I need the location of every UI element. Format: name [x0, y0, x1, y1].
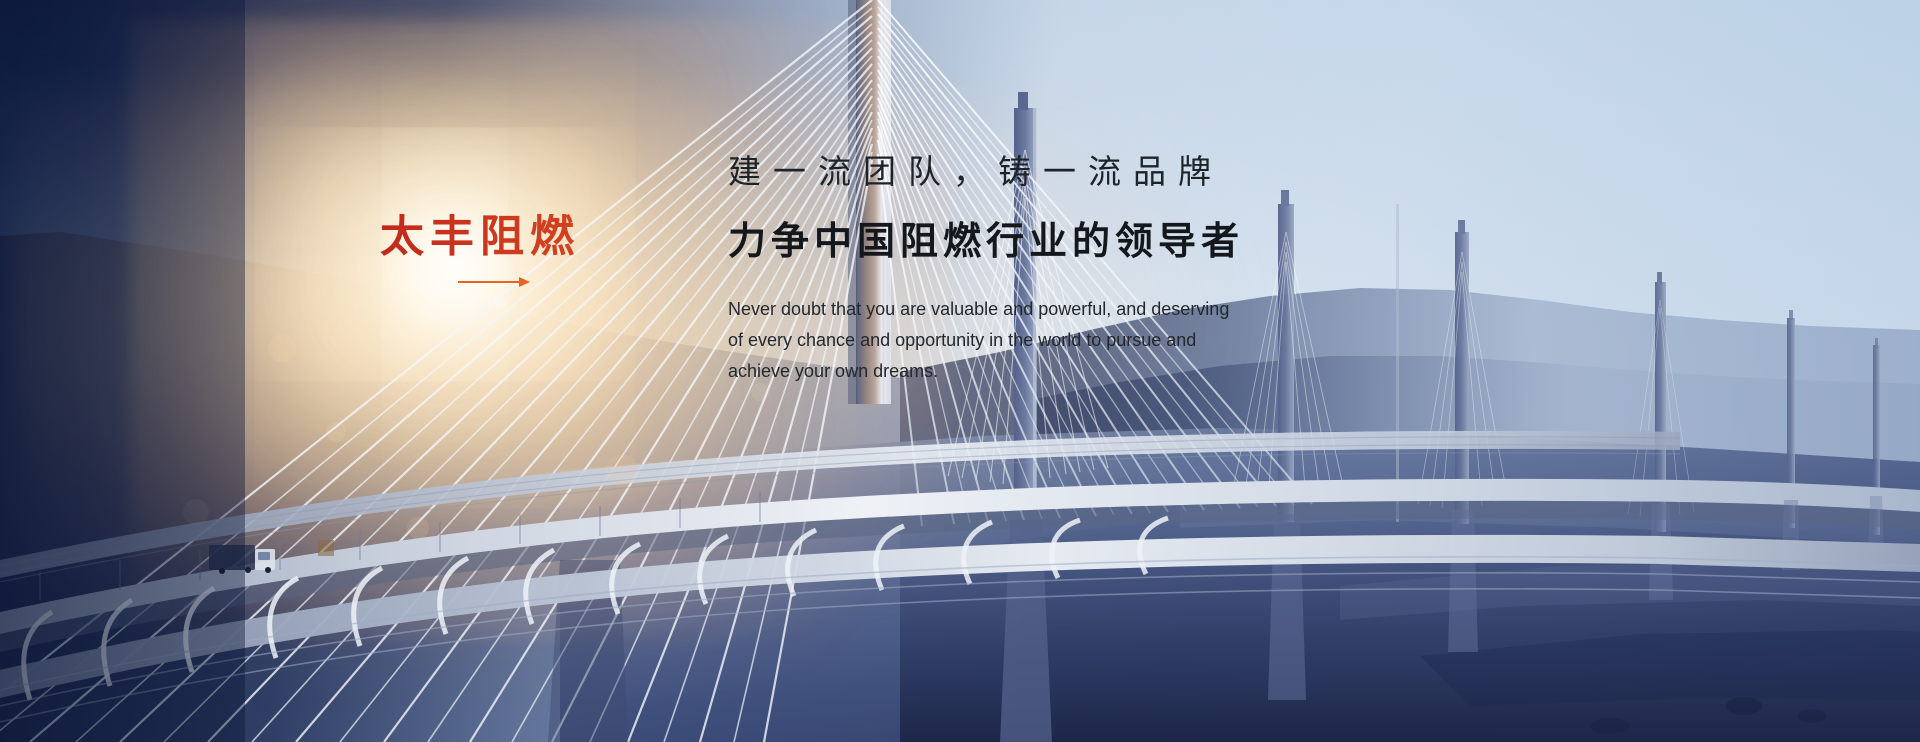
brand-logo[interactable]: 太丰阻燃 [380, 214, 680, 288]
subcopy-line-2: of every chance and opportunity in the w… [728, 325, 1288, 356]
headline-line-2: 力争中国阻燃行业的领导者 [728, 217, 1448, 266]
brand-logo-text: 太丰阻燃 [380, 214, 680, 260]
subcopy-line-1: Never doubt that you are valuable and po… [728, 294, 1288, 325]
headline-block: 建一流团队，铸一流品牌 力争中国阻燃行业的领导者 Never doubt tha… [728, 150, 1448, 387]
hero-banner: 太丰阻燃 建一流团队，铸一流品牌 力争中国阻燃行业的领导者 Never doub… [0, 0, 1920, 742]
arrow-head [519, 277, 530, 287]
headline-line-1: 建一流团队，铸一流品牌 [728, 150, 1448, 195]
arrow-right-icon [458, 276, 530, 288]
subcopy-paragraph: Never doubt that you are valuable and po… [728, 294, 1288, 387]
arrow-shaft [458, 281, 520, 283]
subcopy-line-3: achieve your own dreams. [728, 356, 1288, 387]
banner-content: 太丰阻燃 建一流团队，铸一流品牌 力争中国阻燃行业的领导者 Never doub… [0, 0, 1920, 742]
